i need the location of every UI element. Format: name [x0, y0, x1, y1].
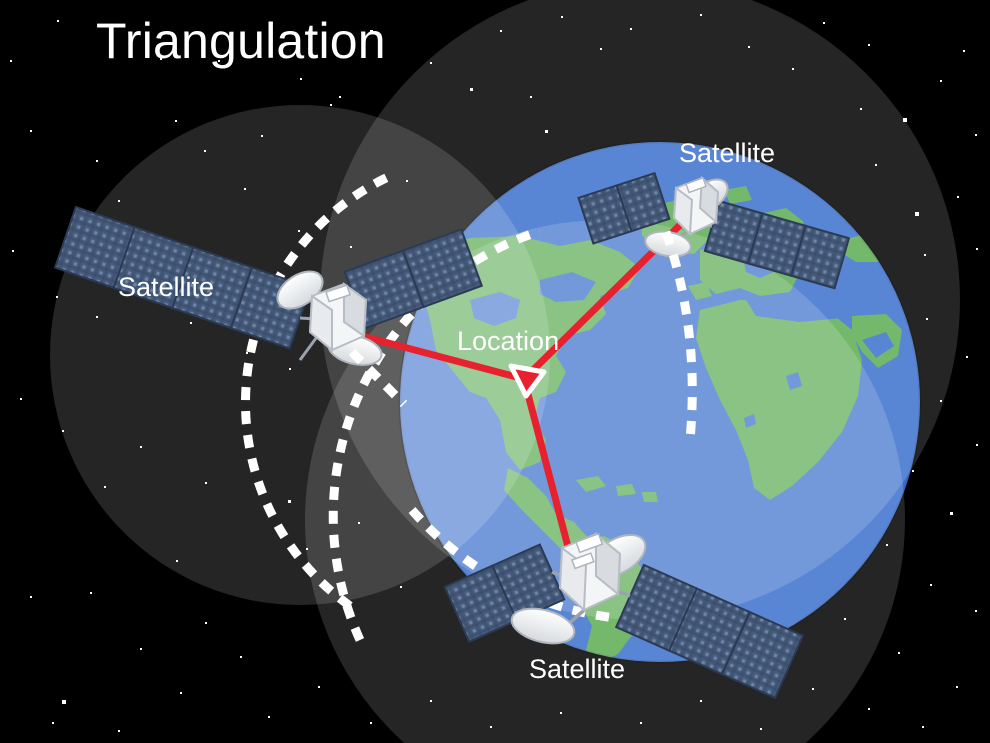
label-satellite-bottom: Satellite — [529, 654, 625, 685]
scene-graphic — [0, 0, 990, 743]
page-title: Triangulation — [96, 12, 386, 70]
label-satellite-left: Satellite — [118, 272, 214, 303]
label-satellite-top: Satellite — [679, 138, 775, 169]
label-location: Location — [457, 326, 559, 357]
triangulation-illustration: Triangulation Satellite Satellite Satell… — [0, 0, 990, 743]
